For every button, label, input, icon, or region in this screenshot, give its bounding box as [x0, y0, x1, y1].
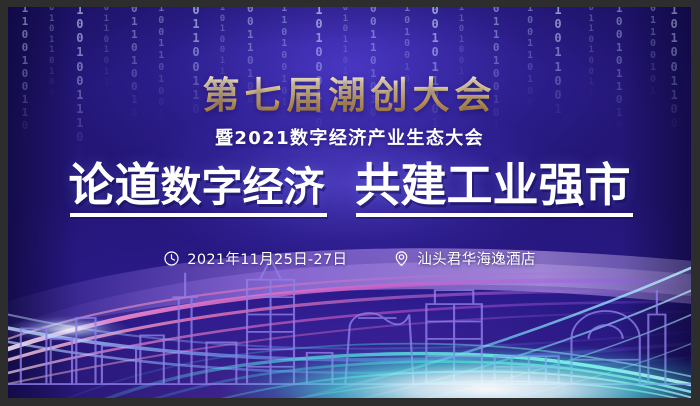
poster-frame: 1100100110110101101001100100111001011010…	[0, 0, 700, 406]
event-location-text: 汕头君华海逸酒店	[417, 248, 535, 269]
event-location: 汕头君华海逸酒店	[393, 248, 535, 269]
event-meta: 2021年11月25日-27日 汕头君华海逸酒店	[8, 248, 691, 269]
slogan-right: 共建工业强市	[355, 162, 631, 208]
event-date: 2021年11月25日-27日	[163, 248, 347, 269]
poster-canvas: 1100100110110101101001100100111001011010…	[8, 7, 691, 398]
slogan-left-secondary: 数字经济	[161, 167, 325, 208]
slogan-left: 论道 数字经济	[69, 162, 325, 208]
clock-icon	[163, 250, 180, 267]
poster-content: 第七届潮创大会 暨2021数字经济产业生态大会 论道 数字经济 共建工业强市	[8, 7, 691, 398]
page-subtitle: 暨2021数字经济产业生态大会	[8, 124, 691, 150]
slogan-right-text: 共建工业强市	[355, 162, 631, 208]
page-title: 第七届潮创大会	[8, 65, 691, 119]
slogan-right-underline	[356, 213, 633, 217]
slogan-line: 论道 数字经济 共建工业强市	[8, 162, 691, 208]
slogan-left-primary: 论道	[69, 162, 161, 208]
event-date-text: 2021年11月25日-27日	[187, 248, 347, 269]
slogan-left-underline	[70, 213, 327, 217]
location-pin-icon	[393, 250, 410, 267]
